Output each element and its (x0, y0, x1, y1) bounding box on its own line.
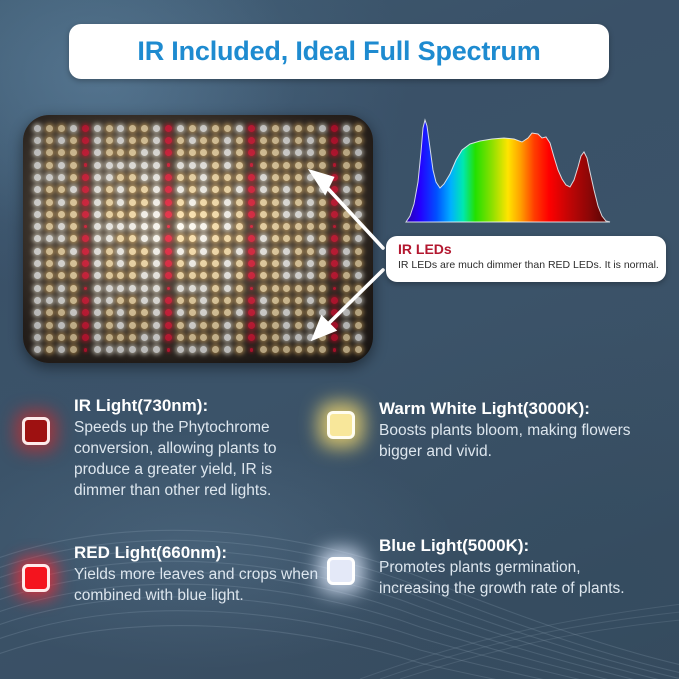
led-dot (106, 260, 113, 267)
led-dot (212, 235, 219, 242)
led-dot (165, 149, 172, 156)
led-dot (200, 211, 207, 218)
led-dot (224, 346, 231, 353)
led-dot (236, 285, 243, 292)
led-dot (260, 186, 267, 193)
led-dot (46, 186, 53, 193)
led-dot (200, 137, 207, 144)
led-dot (248, 322, 255, 329)
led-dot (355, 248, 362, 255)
led-dot (117, 174, 124, 181)
led-dot (70, 186, 77, 193)
led-dot (129, 248, 136, 255)
led-dot (70, 272, 77, 279)
led-dot (355, 346, 362, 353)
led-dot (70, 260, 77, 267)
led-dot (248, 260, 255, 267)
led-dot (117, 260, 124, 267)
led-dot (272, 211, 279, 218)
led-dot (212, 260, 219, 267)
led-dot (260, 174, 267, 181)
led-dot (248, 248, 255, 255)
led-dot (153, 137, 160, 144)
led-dot (319, 223, 326, 230)
led-dot (319, 162, 326, 169)
led-dot (200, 162, 207, 169)
led-dot (224, 322, 231, 329)
page-title: IR Included, Ideal Full Spectrum (137, 36, 540, 67)
led-dot (70, 285, 77, 292)
led-dot (283, 248, 290, 255)
led-dot (34, 309, 41, 316)
led-dot (355, 162, 362, 169)
led-dot (295, 248, 302, 255)
led-dot (355, 125, 362, 132)
led-dot (189, 186, 196, 193)
led-dot (236, 235, 243, 242)
led-dot (46, 309, 53, 316)
led-dot (94, 285, 101, 292)
led-dot (94, 174, 101, 181)
led-dot (224, 260, 231, 267)
led-dot (212, 149, 219, 156)
led-dot (319, 186, 326, 193)
led-dot (177, 322, 184, 329)
led-dot (343, 309, 350, 316)
feature-title: Warm White Light(3000K): (379, 398, 657, 420)
led-dot (70, 223, 77, 230)
led-dot (307, 223, 314, 230)
led-dot (331, 174, 338, 181)
warm-white-light-swatch-icon (327, 411, 355, 439)
led-dot (331, 260, 338, 267)
led-dot (272, 248, 279, 255)
led-dot (248, 334, 255, 341)
led-dot (70, 248, 77, 255)
led-dot (343, 223, 350, 230)
led-dot (177, 334, 184, 341)
led-dot (82, 125, 89, 132)
led-dot (295, 149, 302, 156)
led-dot (355, 137, 362, 144)
led-dot (46, 211, 53, 218)
led-dot (34, 186, 41, 193)
led-dot (260, 223, 267, 230)
led-dot (117, 285, 124, 292)
led-dot (200, 223, 207, 230)
led-dot (34, 174, 41, 181)
led-dot (106, 272, 113, 279)
led-dot (200, 309, 207, 316)
led-dot (141, 186, 148, 193)
led-dot (295, 211, 302, 218)
led-dot (236, 223, 243, 230)
led-dot (295, 174, 302, 181)
led-dot (283, 223, 290, 230)
led-dot (94, 186, 101, 193)
led-dot (307, 125, 314, 132)
led-dot (106, 235, 113, 242)
led-dot (117, 346, 124, 353)
led-dot (94, 248, 101, 255)
led-dot (177, 297, 184, 304)
led-dot (189, 125, 196, 132)
led-dot (106, 174, 113, 181)
led-dot (224, 125, 231, 132)
led-dot (106, 149, 113, 156)
led-dot (283, 322, 290, 329)
led-dot (200, 199, 207, 206)
led-dot (331, 322, 338, 329)
led-dot (94, 297, 101, 304)
led-dot (319, 149, 326, 156)
led-dot (212, 137, 219, 144)
led-dot (129, 309, 136, 316)
led-dot (141, 199, 148, 206)
led-dot (236, 199, 243, 206)
led-dot (167, 287, 170, 290)
led-dot (117, 334, 124, 341)
led-dot (224, 285, 231, 292)
led-dot (212, 223, 219, 230)
led-dot (106, 297, 113, 304)
led-dot (141, 285, 148, 292)
led-dot (236, 174, 243, 181)
led-dot (82, 334, 89, 341)
led-dot (355, 211, 362, 218)
led-dot (319, 199, 326, 206)
led-dot (82, 309, 89, 316)
led-dot (34, 297, 41, 304)
led-dot (319, 322, 326, 329)
led-dot (260, 211, 267, 218)
led-dot (46, 162, 53, 169)
led-dot (260, 162, 267, 169)
led-dot (295, 297, 302, 304)
led-dot (34, 199, 41, 206)
led-dot (141, 322, 148, 329)
led-dot (331, 334, 338, 341)
led-dot (307, 260, 314, 267)
led-dot (331, 272, 338, 279)
led-dot (153, 149, 160, 156)
led-dot (58, 186, 65, 193)
led-dot (70, 174, 77, 181)
led-dot (34, 223, 41, 230)
led-dot (283, 125, 290, 132)
led-dot (177, 199, 184, 206)
led-dot (177, 223, 184, 230)
led-dot (189, 211, 196, 218)
led-dot (236, 211, 243, 218)
led-dot (343, 272, 350, 279)
led-dot (177, 186, 184, 193)
led-dot (34, 149, 41, 156)
led-dot (82, 272, 89, 279)
led-dot (343, 174, 350, 181)
led-dot (272, 137, 279, 144)
led-dot (153, 223, 160, 230)
led-dot (94, 260, 101, 267)
led-dot (272, 235, 279, 242)
led-dot (331, 186, 338, 193)
led-dot (272, 346, 279, 353)
led-dot (106, 125, 113, 132)
led-dot (343, 334, 350, 341)
led-dot (343, 125, 350, 132)
led-dot (319, 309, 326, 316)
led-dot (165, 309, 172, 316)
led-dot (106, 248, 113, 255)
led-dot (82, 149, 89, 156)
ir-leds-callout: IR LEDs IR LEDs are much dimmer than RED… (386, 236, 666, 282)
led-dot (319, 297, 326, 304)
led-dot (153, 125, 160, 132)
led-dot (260, 297, 267, 304)
led-dot (236, 346, 243, 353)
led-dot (272, 223, 279, 230)
led-dot (82, 174, 89, 181)
led-dot (117, 223, 124, 230)
led-grow-light-panel (23, 115, 373, 363)
led-dot (82, 260, 89, 267)
led-dot (82, 199, 89, 206)
led-dot (117, 162, 124, 169)
led-dot (189, 309, 196, 316)
led-dot (307, 235, 314, 242)
led-dot (129, 260, 136, 267)
led-dot (189, 137, 196, 144)
feature-body: Promotes plants germination, increasing … (379, 557, 649, 599)
led-dot (260, 137, 267, 144)
led-dot (355, 260, 362, 267)
led-dot (260, 125, 267, 132)
led-dot (70, 137, 77, 144)
led-dot (106, 309, 113, 316)
led-dot (355, 334, 362, 341)
led-dot (46, 297, 53, 304)
led-dot (283, 162, 290, 169)
led-dot (295, 199, 302, 206)
led-dot (200, 260, 207, 267)
led-dot (165, 248, 172, 255)
led-dot (46, 272, 53, 279)
led-dot (177, 125, 184, 132)
led-dot (117, 186, 124, 193)
led-dot (200, 346, 207, 353)
led-dot (212, 125, 219, 132)
led-dot (307, 322, 314, 329)
led-dot (248, 174, 255, 181)
led-dot (343, 346, 350, 353)
led-dot (129, 285, 136, 292)
led-dot (272, 125, 279, 132)
led-dot (307, 248, 314, 255)
led-dot (141, 235, 148, 242)
led-dot (355, 223, 362, 230)
spectrum-chart (404, 112, 612, 224)
led-dot (34, 272, 41, 279)
led-dot (189, 260, 196, 267)
led-dot (272, 199, 279, 206)
led-dot (117, 272, 124, 279)
led-dot (34, 125, 41, 132)
led-dot (46, 334, 53, 341)
led-dot (117, 309, 124, 316)
led-dot (34, 260, 41, 267)
led-dot (84, 225, 87, 228)
led-dot (295, 162, 302, 169)
led-dot (200, 235, 207, 242)
led-dot (200, 285, 207, 292)
led-dot (200, 149, 207, 156)
led-dot (153, 248, 160, 255)
led-dot (58, 174, 65, 181)
led-dot (319, 334, 326, 341)
led-dot (319, 211, 326, 218)
led-dot (319, 174, 326, 181)
led-dot (307, 199, 314, 206)
led-dot (295, 285, 302, 292)
led-dot (224, 162, 231, 169)
led-dot (117, 199, 124, 206)
led-dot (355, 186, 362, 193)
led-dot (167, 225, 170, 228)
led-dot (94, 137, 101, 144)
led-dot (129, 223, 136, 230)
led-dot (153, 346, 160, 353)
led-dot (260, 322, 267, 329)
led-dot (307, 186, 314, 193)
led-dot (283, 334, 290, 341)
led-dot (70, 334, 77, 341)
led-dot (129, 137, 136, 144)
led-dot (70, 211, 77, 218)
led-dot (283, 346, 290, 353)
led-dot (272, 309, 279, 316)
led-dot (212, 297, 219, 304)
led-dot (117, 125, 124, 132)
led-dot (177, 272, 184, 279)
led-dot (153, 199, 160, 206)
feature-body: Speeds up the Phytochrome conversion, al… (74, 417, 324, 501)
led-dot (106, 162, 113, 169)
led-dot (283, 272, 290, 279)
led-dot (248, 149, 255, 156)
led-dot (106, 346, 113, 353)
led-dot (165, 186, 172, 193)
led-dot (58, 272, 65, 279)
led-dot (343, 260, 350, 267)
led-dot (58, 334, 65, 341)
led-dot (46, 260, 53, 267)
led-dot (343, 149, 350, 156)
led-dot (165, 322, 172, 329)
led-dot (224, 149, 231, 156)
blue-light-swatch-icon (327, 557, 355, 585)
led-dot (333, 287, 336, 290)
led-dot (200, 297, 207, 304)
led-dot (260, 346, 267, 353)
led-dot (319, 248, 326, 255)
led-dot (177, 346, 184, 353)
led-dot (307, 162, 314, 169)
led-dot (295, 309, 302, 316)
led-dot (153, 211, 160, 218)
led-dot (200, 322, 207, 329)
led-dot (46, 199, 53, 206)
led-dot (189, 248, 196, 255)
led-dot (58, 297, 65, 304)
led-dot (117, 248, 124, 255)
led-dot (94, 211, 101, 218)
led-dot (165, 260, 172, 267)
led-dot (94, 162, 101, 169)
led-dot (250, 348, 253, 351)
led-dot (212, 346, 219, 353)
led-dot (141, 297, 148, 304)
led-dot (343, 235, 350, 242)
led-dot (165, 235, 172, 242)
led-dot (46, 223, 53, 230)
led-dot (82, 137, 89, 144)
led-dot (212, 334, 219, 341)
led-dot (260, 149, 267, 156)
led-dot (283, 174, 290, 181)
led-dot (236, 162, 243, 169)
led-dot (224, 174, 231, 181)
led-dot (106, 322, 113, 329)
led-dot (212, 322, 219, 329)
led-dot (355, 272, 362, 279)
led-dot (236, 248, 243, 255)
led-dot (248, 309, 255, 316)
led-dot (189, 199, 196, 206)
led-dot (248, 186, 255, 193)
led-dot (34, 248, 41, 255)
led-dot (177, 248, 184, 255)
led-dot (248, 235, 255, 242)
led-dot (58, 346, 65, 353)
led-dot (224, 248, 231, 255)
led-dot (141, 125, 148, 132)
led-dot (165, 211, 172, 218)
led-dot (177, 174, 184, 181)
led-dot (94, 149, 101, 156)
led-dot (84, 287, 87, 290)
led-dot (272, 149, 279, 156)
led-dot (34, 285, 41, 292)
led-dot (129, 199, 136, 206)
led-dot (272, 260, 279, 267)
led-dot (260, 334, 267, 341)
led-dot (260, 199, 267, 206)
led-dot (200, 272, 207, 279)
led-dot (82, 322, 89, 329)
led-dot (141, 162, 148, 169)
led-dot (189, 272, 196, 279)
led-dot (224, 137, 231, 144)
led-dot (224, 223, 231, 230)
led-dot (141, 346, 148, 353)
led-dot (106, 334, 113, 341)
led-dot (117, 137, 124, 144)
led-dot (307, 149, 314, 156)
led-dot (355, 309, 362, 316)
led-dot (236, 137, 243, 144)
led-dot (260, 260, 267, 267)
led-dot (343, 199, 350, 206)
